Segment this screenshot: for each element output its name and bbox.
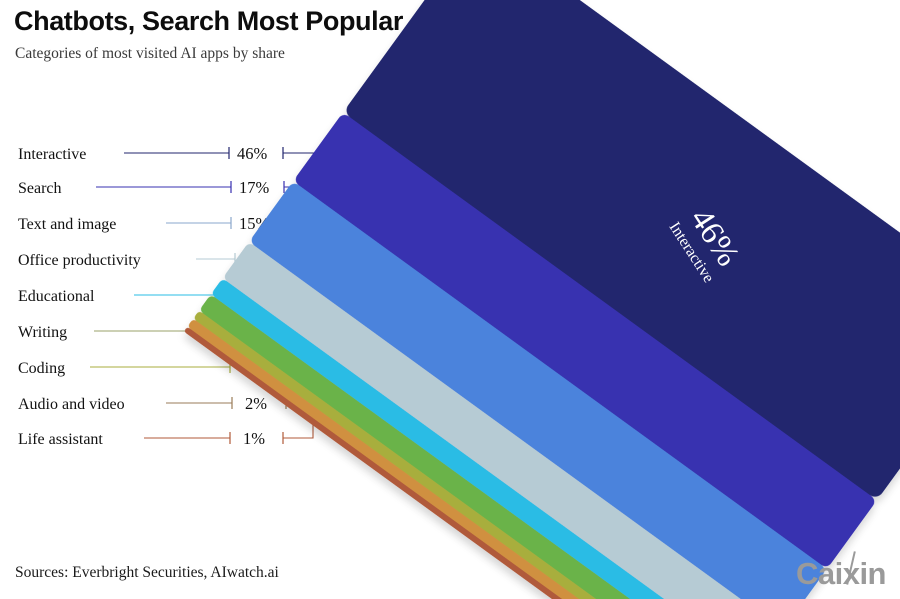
category-labels: Interactive Search Text and image Office… bbox=[18, 146, 141, 448]
sources-note: Sources: Everbright Securities, AIwatch.… bbox=[15, 564, 279, 582]
category-label-interactive: Interactive bbox=[18, 146, 86, 163]
logo-text-b: in bbox=[859, 556, 886, 591]
stacked-bar-chart: Interactive Search Text and image Office… bbox=[0, 0, 900, 599]
infographic-page: Chatbots, Search Most Popular Among AI A… bbox=[0, 0, 900, 599]
category-label-life-assistant: Life assistant bbox=[18, 431, 103, 448]
logo-text-x: x bbox=[843, 558, 860, 589]
caixin-logo: Caixin bbox=[796, 558, 886, 589]
logo-text-a: Cai bbox=[796, 556, 843, 591]
value-label-audio-and-video: 2% bbox=[245, 394, 267, 413]
category-label-search: Search bbox=[18, 180, 62, 197]
category-label-educational: Educational bbox=[18, 288, 95, 305]
category-label-coding: Coding bbox=[18, 360, 65, 377]
value-label-interactive: 46% bbox=[237, 144, 268, 163]
category-label-office-productivity: Office productivity bbox=[18, 252, 141, 269]
category-label-text-and-image: Text and image bbox=[18, 216, 116, 233]
category-label-audio-and-video: Audio and video bbox=[18, 396, 125, 413]
rotated-stacked-bar bbox=[184, 0, 900, 599]
value-label-search: 17% bbox=[239, 178, 270, 197]
category-label-writing: Writing bbox=[18, 324, 67, 341]
value-label-life-assistant: 1% bbox=[243, 429, 265, 448]
